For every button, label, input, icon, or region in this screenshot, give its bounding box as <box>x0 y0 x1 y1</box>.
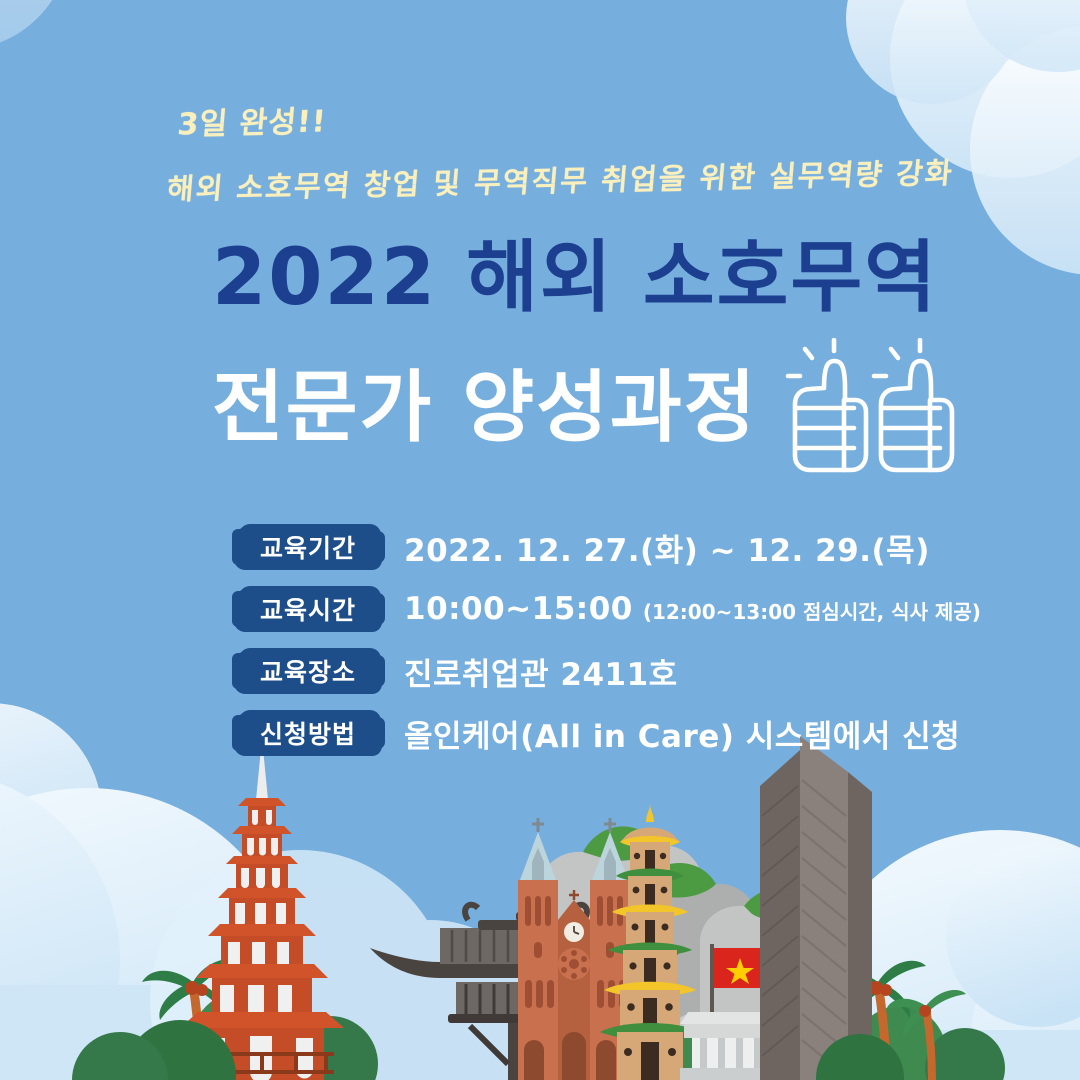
poster-title-line-2: 전문가 양성과정 <box>212 368 757 450</box>
info-value-time: 10:00~15:00 (12:00~13:00 점심시간, 식사 제공) <box>404 591 981 627</box>
bitexco-tower-icon <box>760 736 872 1080</box>
poster-title-line-1: 2022 해외 소호무역 <box>212 238 938 320</box>
thumbs-up-icon-left <box>788 340 866 470</box>
info-value-place: 진로취업관 2411호 <box>404 649 678 694</box>
eyebrow-line-1: 3일 완성!! <box>176 96 328 143</box>
info-badge-label: 교육기간 <box>260 529 356 565</box>
info-row-place: 교육장소 진로취업관 2411호 <box>236 642 981 700</box>
info-badge-label: 교육장소 <box>260 653 356 689</box>
info-badge-label: 교육시간 <box>260 591 356 627</box>
info-badge-label: 신청방법 <box>260 715 356 751</box>
vietnam-landmarks-illustration <box>0 720 1080 1080</box>
info-value-text: 2022. 12. 27.(화) ~ 12. 29.(목) <box>404 525 930 570</box>
info-value-period: 2022. 12. 27.(화) ~ 12. 29.(목) <box>404 525 930 570</box>
info-row-time: 교육시간 10:00~15:00 (12:00~13:00 점심시간, 식사 제… <box>236 580 981 638</box>
info-value-text: 올인케어(All in Care) 시스템에서 신청 <box>404 711 960 756</box>
info-value-apply: 올인케어(All in Care) 시스템에서 신청 <box>404 711 960 756</box>
thumbs-up-group <box>776 338 956 490</box>
info-value-text: 10:00~15:00 <box>404 591 633 627</box>
info-badge-apply: 신청방법 <box>236 712 380 754</box>
info-badge-period: 교육기간 <box>236 526 380 568</box>
info-badge-place: 교육장소 <box>236 650 380 692</box>
info-value-text: 진로취업관 2411호 <box>404 649 678 694</box>
info-row-apply: 신청방법 올인케어(All in Care) 시스템에서 신청 <box>236 704 981 762</box>
info-row-period: 교육기간 2022. 12. 27.(화) ~ 12. 29.(목) <box>236 518 981 576</box>
info-badge-time: 교육시간 <box>236 588 380 630</box>
poster-root: 3일 완성!! 해외 소호무역 창업 및 무역직무 취업을 위한 실무역량 강화… <box>0 0 1080 1080</box>
info-value-note: (12:00~13:00 점심시간, 식사 제공) <box>643 596 981 625</box>
thumbs-up-icon-right <box>874 340 952 470</box>
info-list: 교육기간 2022. 12. 27.(화) ~ 12. 29.(목) 교육시간 … <box>236 518 981 762</box>
